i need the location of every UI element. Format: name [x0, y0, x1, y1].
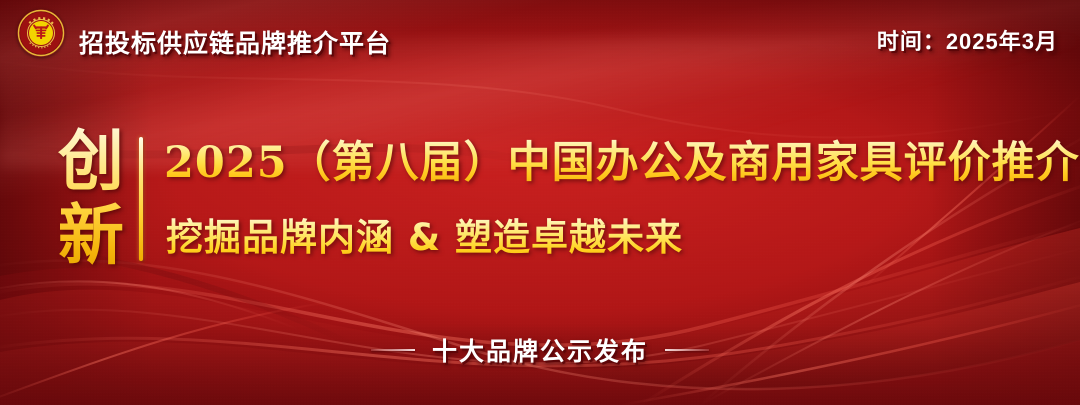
- event-title: 2025（第八届）中国办公及商用家具评价推介活动: [164, 135, 1080, 191]
- keyword-innovation: 创新: [52, 124, 130, 272]
- event-subtitle: 挖掘品牌内涵 & 塑造卓越未来: [166, 214, 683, 262]
- left-dash-decoration: [371, 349, 415, 351]
- footer-announcement: 十大品牌公示发布: [432, 332, 648, 368]
- event-promo-banner: 招投标供应链品牌推介平台 时间：2025年3月 创新 2025（第八届）中国办公…: [0, 0, 1080, 405]
- vertical-gold-divider: [139, 137, 143, 261]
- right-dash-decoration: [665, 349, 709, 351]
- banner-footer: 十大品牌公示发布: [0, 328, 1080, 372]
